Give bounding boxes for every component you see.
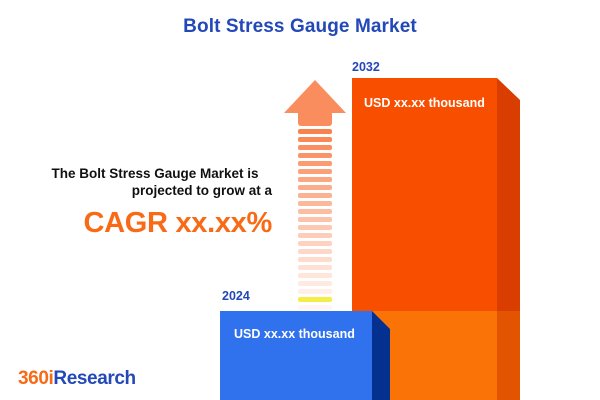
statement-line-2: projected to grow at a bbox=[30, 182, 280, 199]
arrow-stripe bbox=[298, 201, 332, 206]
arrow-stripe bbox=[298, 209, 332, 214]
bar-2024-value-label: USD xx.xx thousand bbox=[234, 327, 355, 341]
arrow-head-icon bbox=[284, 80, 346, 113]
bar-2024-year-label: 2024 bbox=[222, 289, 250, 303]
statement-block: The Bolt Stress Gauge Market is projecte… bbox=[30, 165, 280, 240]
brand-logo: 360iResearch bbox=[18, 368, 136, 390]
arrow-stripe bbox=[298, 233, 332, 238]
arrow-stripe bbox=[298, 217, 332, 222]
arrow-stripe bbox=[298, 169, 332, 174]
arrow-stripe bbox=[298, 241, 332, 246]
arrow-stripe bbox=[298, 145, 332, 150]
bar-2032-value-label: USD xx.xx thousand bbox=[364, 96, 485, 110]
arrow-stripe bbox=[298, 225, 332, 230]
arrow-stripe bbox=[298, 193, 332, 198]
arrow-stripe bbox=[298, 281, 332, 286]
arrow-stripe bbox=[298, 137, 332, 142]
statement-line-1: The Bolt Stress Gauge Market is bbox=[30, 165, 280, 182]
bar-2032-side-face-lower bbox=[497, 311, 520, 400]
arrow-stripe bbox=[298, 273, 332, 278]
arrow-neck-icon bbox=[298, 113, 332, 126]
logo-text-research: Research bbox=[53, 368, 135, 389]
arrow-stripe bbox=[298, 297, 332, 302]
infographic-canvas: Bolt Stress Gauge Market The Bolt Stress… bbox=[0, 0, 600, 400]
growth-arrow-icon bbox=[284, 80, 346, 285]
bar-2024-front-face bbox=[220, 311, 372, 400]
arrow-stripe bbox=[298, 161, 332, 166]
bar-2032-year-label: 2032 bbox=[352, 60, 380, 74]
logo-text-360: 360 bbox=[18, 368, 49, 389]
page-title: Bolt Stress Gauge Market bbox=[0, 16, 600, 38]
arrow-stripe bbox=[298, 257, 332, 262]
arrow-stripe bbox=[298, 129, 332, 134]
arrow-stripe bbox=[298, 249, 332, 254]
arrow-stripe bbox=[298, 265, 332, 270]
arrow-stripe bbox=[298, 185, 332, 190]
arrow-stripe bbox=[298, 177, 332, 182]
arrow-stripe bbox=[298, 305, 332, 310]
arrow-stripes bbox=[298, 129, 332, 337]
arrow-stripe bbox=[298, 289, 332, 294]
arrow-stripe bbox=[298, 153, 332, 158]
bar-2032-side-face-upper bbox=[497, 78, 520, 311]
bar-2032-front-face-upper bbox=[352, 78, 497, 311]
cagr-value: CAGR xx.xx% bbox=[30, 207, 280, 240]
